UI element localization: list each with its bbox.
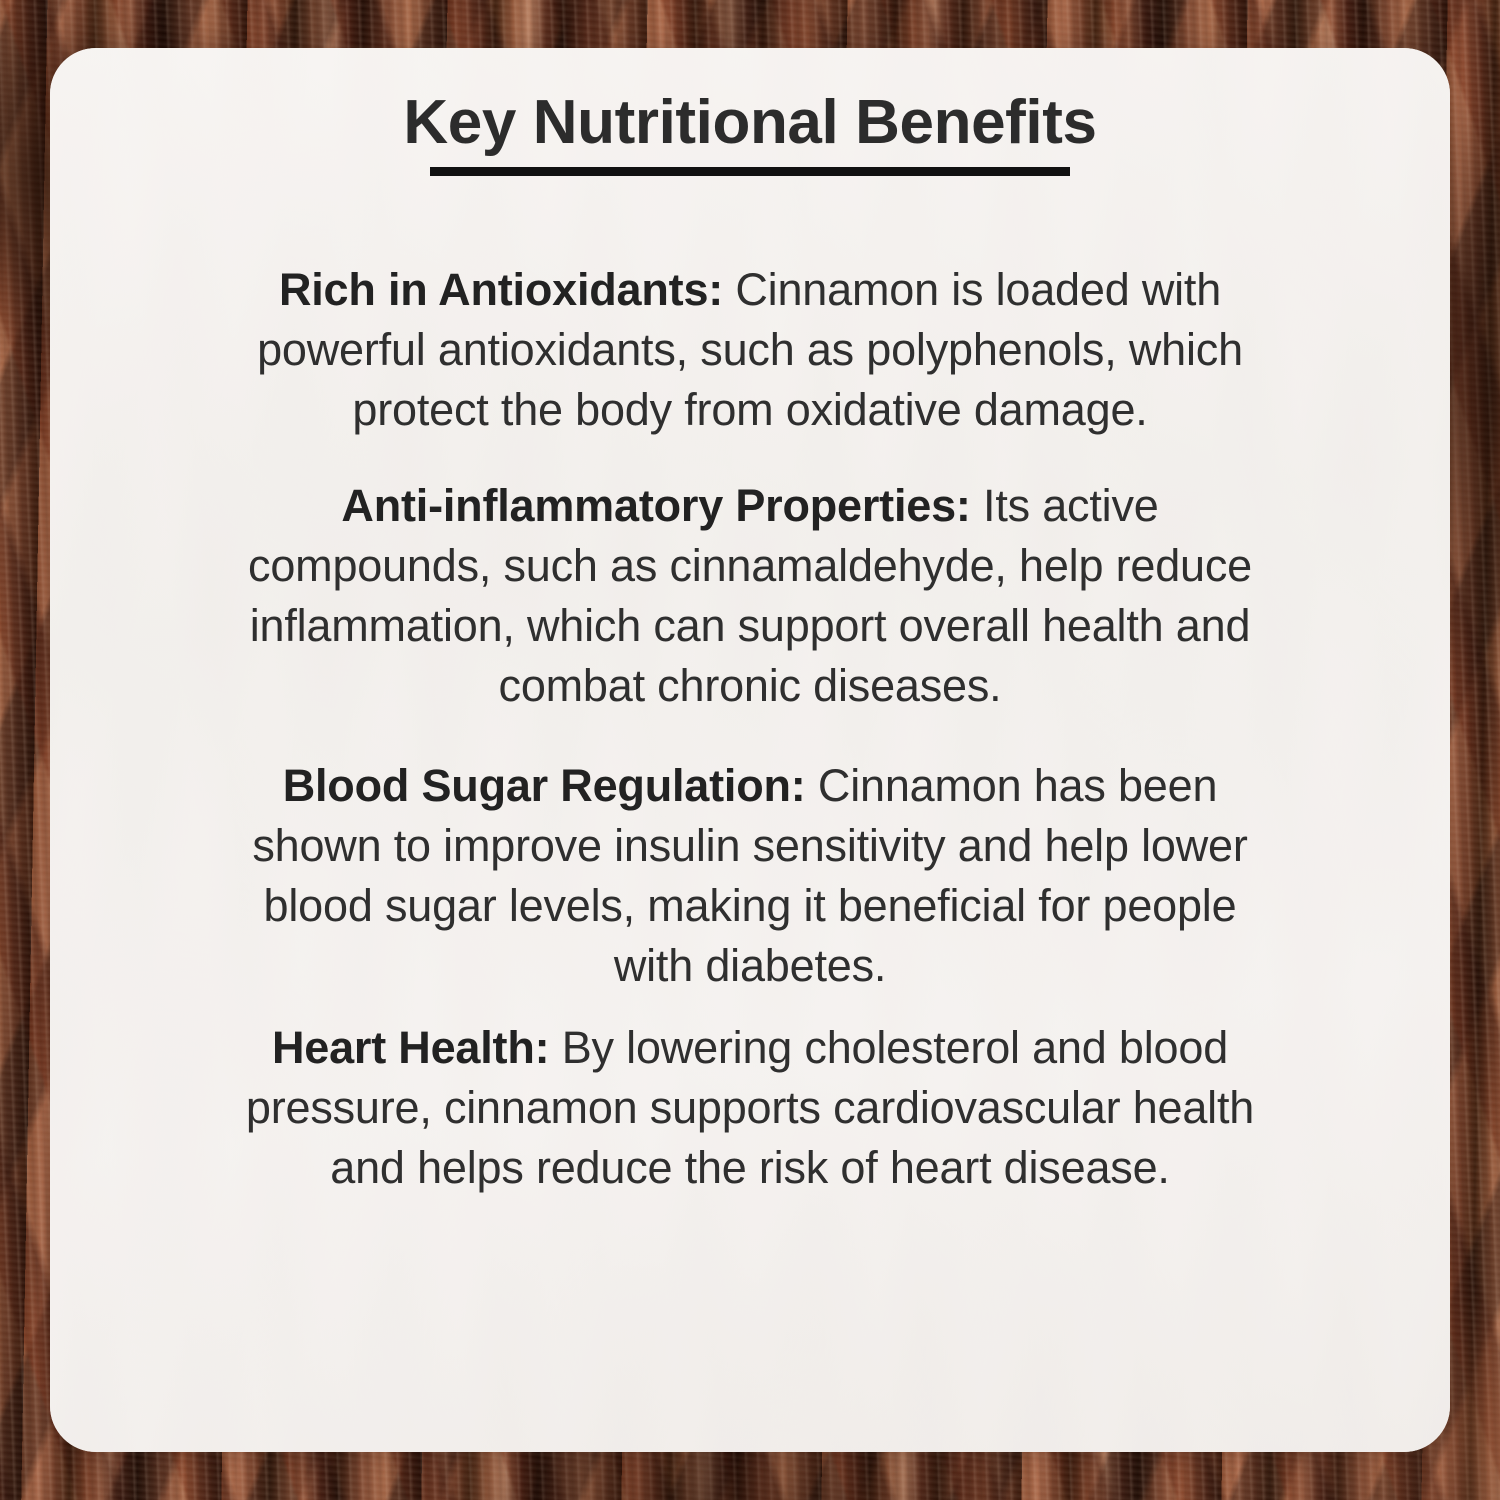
- title-underline-rule: [430, 167, 1070, 176]
- benefit-item-anti-inflammatory: Anti-inflammatory Properties: Its active…: [50, 476, 1450, 716]
- benefit-term: Anti-inflammatory Properties:: [341, 480, 970, 531]
- benefit-term: Rich in Antioxidants:: [279, 264, 723, 315]
- benefit-item-blood-sugar: Blood Sugar Regulation: Cinnamon has bee…: [50, 756, 1450, 996]
- title-block: Key Nutritional Benefits: [50, 90, 1450, 176]
- benefit-term: Blood Sugar Regulation:: [283, 760, 806, 811]
- benefits-list: Rich in Antioxidants: Cinnamon is loaded…: [50, 260, 1450, 1198]
- page-title: Key Nutritional Benefits: [50, 90, 1450, 155]
- content-card: Key Nutritional Benefits Rich in Antioxi…: [50, 48, 1450, 1452]
- benefit-item-antioxidants: Rich in Antioxidants: Cinnamon is loaded…: [50, 260, 1450, 440]
- card-content: Key Nutritional Benefits Rich in Antioxi…: [50, 90, 1450, 1198]
- benefit-term: Heart Health:: [272, 1022, 549, 1073]
- benefit-item-heart-health: Heart Health: By lowering cholesterol an…: [50, 1018, 1450, 1198]
